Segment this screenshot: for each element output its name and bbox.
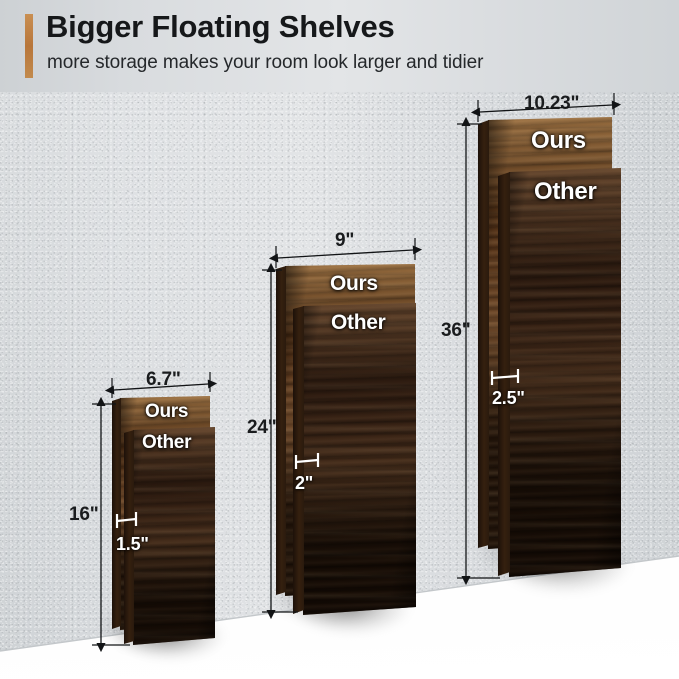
large-other-board	[509, 168, 621, 577]
small-height-label: 16"	[69, 504, 99, 526]
medium-other-board	[303, 303, 416, 615]
large-other-label: Other	[534, 178, 597, 206]
page-title: Bigger Floating Shelves	[46, 9, 395, 45]
large-ours-edge	[478, 120, 489, 548]
small-ours-edge	[112, 398, 121, 629]
medium-other-grain	[303, 303, 416, 615]
large-other-grain	[509, 168, 621, 577]
medium-thickness-label: 2"	[295, 473, 313, 494]
large-ours-label: Ours	[531, 127, 586, 155]
small-ours-label: Ours	[145, 401, 188, 423]
medium-ours-label: Ours	[330, 272, 378, 296]
large-height-label: 36"	[441, 320, 471, 342]
small-width-label: 6.7"	[146, 369, 181, 391]
medium-width-label: 9"	[335, 230, 354, 252]
large-width-label: 10.23"	[524, 93, 579, 115]
accent-bar-icon	[25, 14, 33, 78]
infographic-canvas: Bigger Floating Shelves more storage mak…	[0, 0, 679, 679]
medium-height-label: 24"	[247, 417, 277, 439]
medium-ours-edge	[276, 266, 286, 595]
medium-other-edge	[293, 306, 304, 614]
large-thickness-label: 2.5"	[492, 388, 525, 409]
small-other-label: Other	[142, 432, 191, 454]
large-other-edge	[498, 172, 510, 576]
medium-other-label: Other	[331, 311, 386, 335]
small-thickness-label: 1.5"	[116, 534, 149, 555]
page-subtitle: more storage makes your room look larger…	[47, 52, 483, 74]
